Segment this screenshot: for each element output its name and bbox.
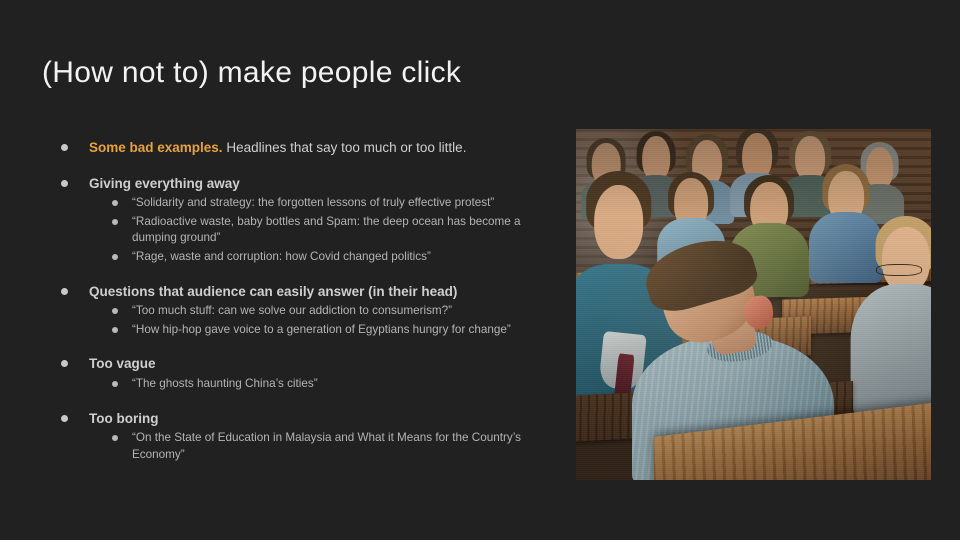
bullet-level-1: Too vague	[52, 354, 552, 374]
slide: (How not to) make people click Some bad …	[0, 0, 960, 540]
bullet-heading-text: Questions that audience can easily answe…	[89, 284, 457, 299]
bullet-dot-icon	[112, 200, 118, 206]
bullet-sub-text: “Solidarity and strategy: the forgotten …	[132, 196, 494, 209]
bullet-level-1: Questions that audience can easily answe…	[52, 282, 552, 302]
bullet-level-2: “Rage, waste and corruption: how Covid c…	[52, 249, 552, 266]
bullet-level-1: Giving everything away	[52, 174, 552, 194]
bullet-dot-icon	[61, 288, 68, 295]
bullet-level-2: “The ghosts haunting China’s cities”	[52, 376, 552, 393]
bullet-dot-icon	[61, 180, 68, 187]
bullet-dot-icon	[112, 435, 118, 441]
bullet-dot-icon	[112, 219, 118, 225]
head	[594, 185, 644, 259]
bullet-sub-text: “On the State of Education in Malaysia a…	[132, 431, 521, 461]
bullet-rest-text: Headlines that say too much or too littl…	[223, 140, 467, 155]
bullet-dot-icon	[61, 360, 68, 367]
bullet-sub-text: “Too much stuff: can we solve our addict…	[132, 304, 452, 317]
illustration-scene	[576, 129, 931, 480]
bullet-sub-text: “Radioactive waste, baby bottles and Spa…	[132, 215, 521, 245]
bullet-dot-icon	[112, 308, 118, 314]
head	[882, 227, 930, 291]
bullet-group: Questions that audience can easily answe…	[52, 282, 552, 339]
glasses-icon	[876, 264, 922, 276]
bullet-dot-icon	[112, 381, 118, 387]
bullet-list: Some bad examples. Headlines that say to…	[52, 138, 552, 463]
bullet-level-2: “Solidarity and strategy: the forgotten …	[52, 195, 552, 212]
bullet-level-1: Some bad examples. Headlines that say to…	[52, 138, 552, 158]
bullet-heading-text: Too vague	[89, 356, 156, 371]
bullet-group: Too vague“The ghosts haunting China’s ci…	[52, 354, 552, 392]
bullet-dot-icon	[112, 254, 118, 260]
bullet-sub-text: “How hip-hop gave voice to a generation …	[132, 323, 511, 336]
bullet-level-2: “On the State of Education in Malaysia a…	[52, 430, 552, 463]
bullet-sub-text: “Rage, waste and corruption: how Covid c…	[132, 250, 431, 263]
bullet-sub-text: “The ghosts haunting China’s cities”	[132, 377, 318, 390]
bullet-heading-text: Giving everything away	[89, 176, 240, 191]
lecture-hall-illustration	[576, 129, 931, 480]
student-figure-glasses	[860, 227, 931, 417]
bullet-group: Giving everything away“Solidarity and st…	[52, 174, 552, 266]
bullet-dot-icon	[61, 144, 68, 151]
torso	[851, 284, 931, 417]
bullet-level-1: Too boring	[52, 409, 552, 429]
bullet-group: Some bad examples. Headlines that say to…	[52, 138, 552, 158]
bullet-level-2: “Radioactive waste, baby bottles and Spa…	[52, 214, 552, 247]
page-title: (How not to) make people click	[42, 56, 562, 91]
bullet-dot-icon	[61, 415, 68, 422]
bullet-dot-icon	[112, 327, 118, 333]
bullet-level-2: “Too much stuff: can we solve our addict…	[52, 303, 552, 320]
bullet-lead-text: Some bad examples.	[89, 140, 223, 155]
bullet-level-2: “How hip-hop gave voice to a generation …	[52, 322, 552, 339]
bullet-group: Too boring“On the State of Education in …	[52, 409, 552, 464]
bullet-heading-text: Too boring	[89, 411, 158, 426]
